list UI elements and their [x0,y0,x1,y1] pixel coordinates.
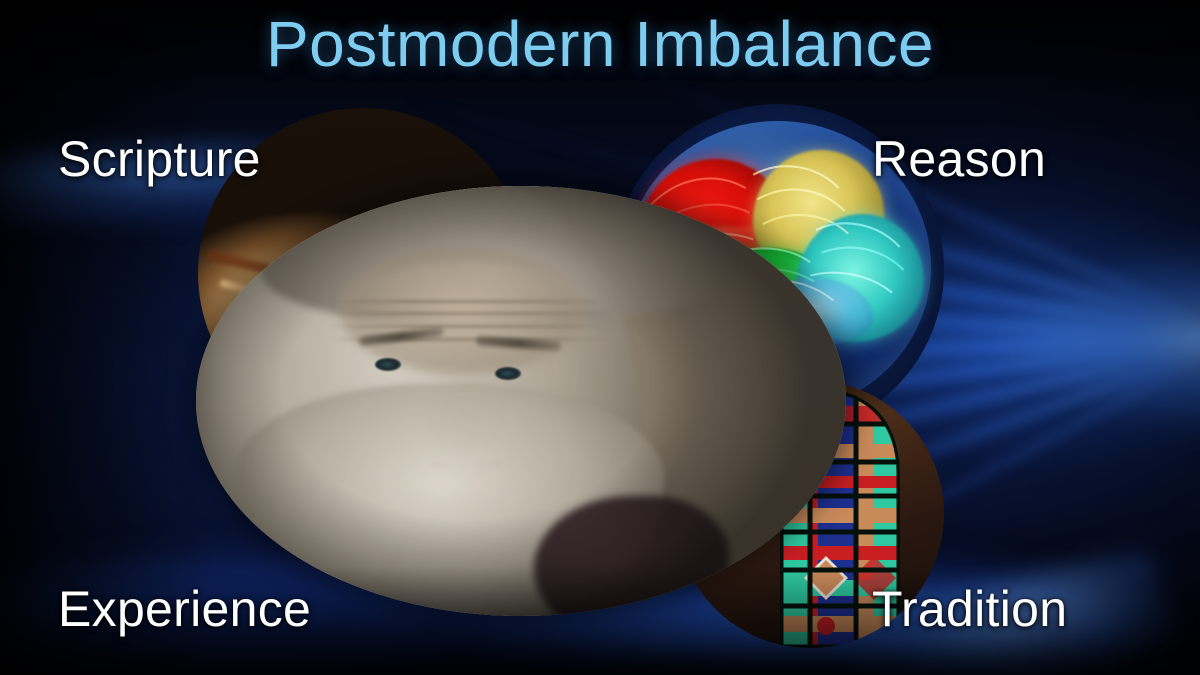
label-scripture: Scripture [58,134,261,184]
page-title: Postmodern Imbalance [0,12,1200,76]
label-experience: Experience [58,584,311,634]
label-tradition: Tradition [872,584,1067,634]
label-reason: Reason [872,134,1046,184]
slide-canvas: Postmodern Imbalance Scripture Reason Ex… [0,0,1200,675]
edge-vignette [0,0,1200,675]
